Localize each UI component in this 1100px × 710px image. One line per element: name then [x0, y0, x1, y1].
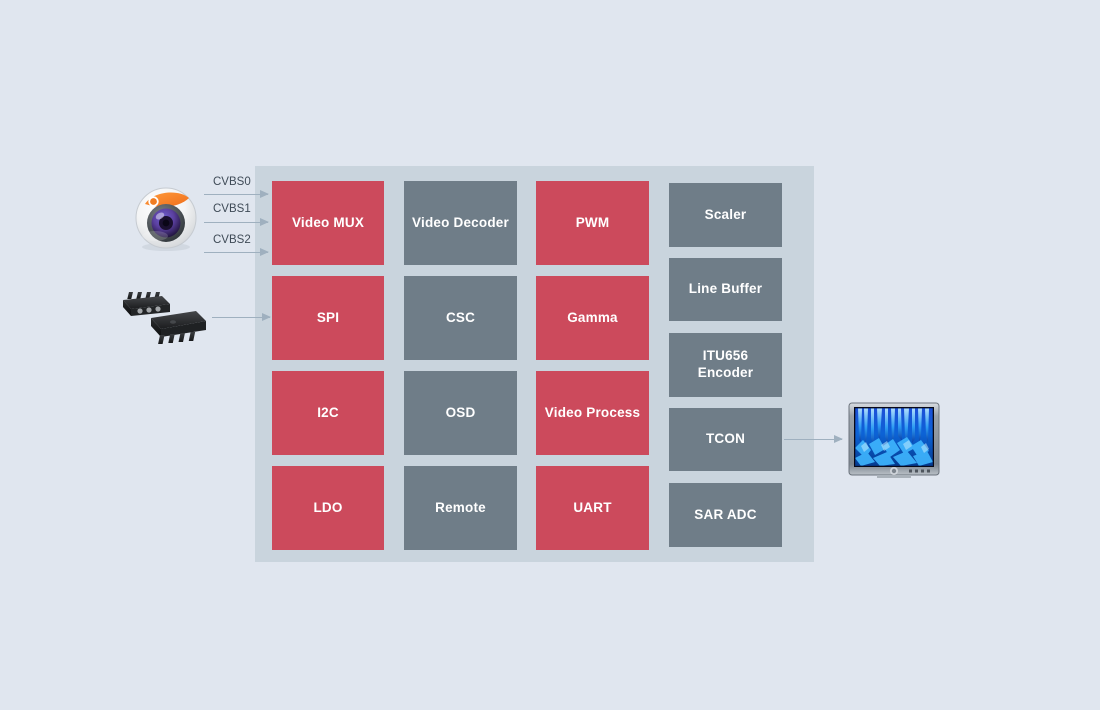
block-uart[interactable]: UART	[536, 466, 649, 550]
connector-cvbs1-arrow	[204, 222, 268, 223]
monitor-display-icon	[847, 402, 941, 480]
block-gamma[interactable]: Gamma	[536, 276, 649, 360]
connector-chips-to-spi-arrow	[212, 317, 270, 318]
block-video-decoder[interactable]: Video Decoder	[404, 181, 517, 265]
signal-label-cvbs0: CVBS0	[213, 176, 251, 188]
block-csc[interactable]: CSC	[404, 276, 517, 360]
block-line-buffer[interactable]: Line Buffer	[669, 258, 782, 321]
block-osd[interactable]: OSD	[404, 371, 517, 455]
connector-tcon-to-monitor-arrow	[784, 439, 842, 440]
block-pwm[interactable]: PWM	[536, 181, 649, 265]
connector-cvbs0-arrow	[204, 194, 268, 195]
block-i2c[interactable]: I2C	[272, 371, 384, 455]
block-tcon[interactable]: TCON	[669, 408, 782, 471]
camera-icon	[133, 184, 199, 252]
block-spi[interactable]: SPI	[272, 276, 384, 360]
connector-cvbs2-arrow	[204, 252, 268, 253]
block-video-mux[interactable]: Video MUX	[272, 181, 384, 265]
signal-label-cvbs2: CVBS2	[213, 234, 251, 246]
block-itu656-encoder[interactable]: ITU656Encoder	[669, 333, 782, 397]
signal-label-cvbs1: CVBS1	[213, 203, 251, 215]
block-sar-adc[interactable]: SAR ADC	[669, 483, 782, 547]
block-video-process[interactable]: Video Process	[536, 371, 649, 455]
block-remote[interactable]: Remote	[404, 466, 517, 550]
block-scaler[interactable]: Scaler	[669, 183, 782, 247]
block-ldo[interactable]: LDO	[272, 466, 384, 550]
ic-chip-icon	[118, 288, 212, 350]
